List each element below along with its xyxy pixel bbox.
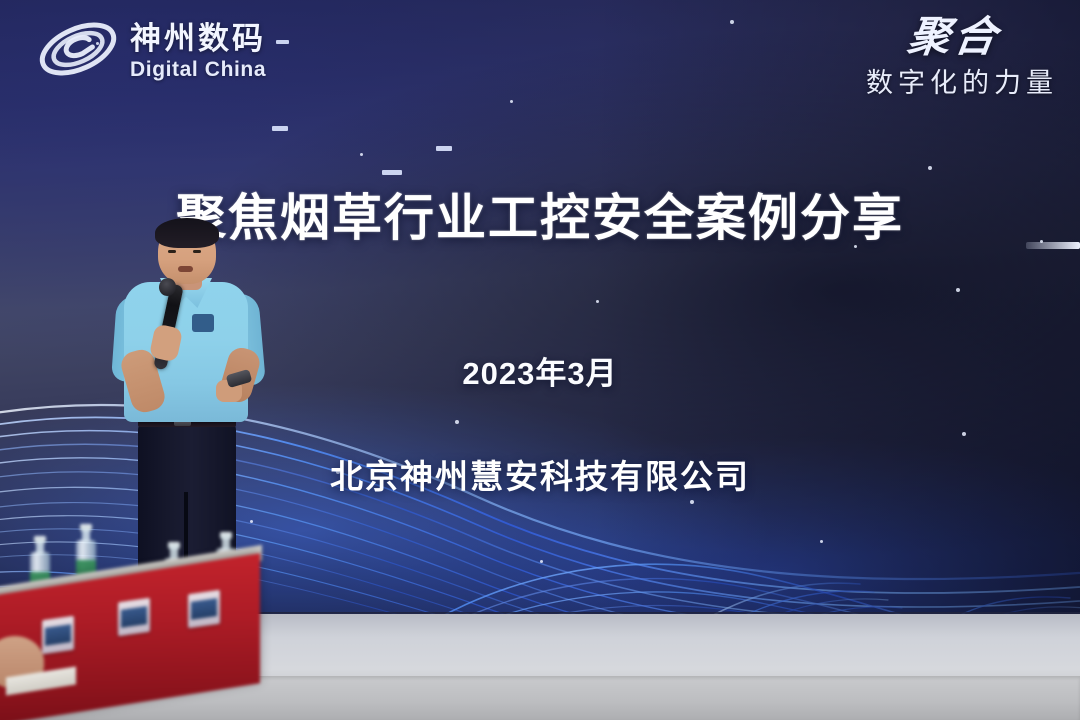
conference-stage-scene: 神州数码 Digital China 聚合 数字化的力量 聚焦烟草行业工控安全案… — [0, 0, 1080, 720]
light-particle — [928, 166, 932, 170]
light-particle — [540, 560, 543, 563]
foreground-group — [0, 0, 300, 720]
bottle-neck — [36, 541, 44, 554]
name-card — [118, 598, 150, 636]
name-card — [188, 590, 220, 628]
light-particle — [690, 500, 694, 504]
light-particle — [596, 300, 599, 303]
bottle-neck — [82, 529, 90, 542]
light-particle — [730, 20, 734, 24]
event-logo: 聚合 数字化的力量 — [866, 16, 1058, 100]
light-particle — [510, 100, 513, 103]
light-particle — [820, 540, 823, 543]
light-particle — [436, 146, 452, 151]
light-particle — [962, 432, 966, 436]
name-card-strip — [191, 598, 217, 620]
light-particle — [382, 170, 402, 175]
event-tagline: 数字化的力量 — [866, 61, 1058, 100]
light-particle — [956, 288, 960, 292]
event-brush-text: 聚合 — [863, 16, 1003, 59]
name-card-strip — [121, 606, 147, 628]
name-card — [42, 616, 74, 654]
accent-dash-decoration — [1026, 242, 1080, 249]
light-particle — [455, 420, 459, 424]
bottle-neck — [222, 537, 230, 550]
light-particle — [360, 153, 363, 156]
name-card-strip — [45, 624, 71, 646]
